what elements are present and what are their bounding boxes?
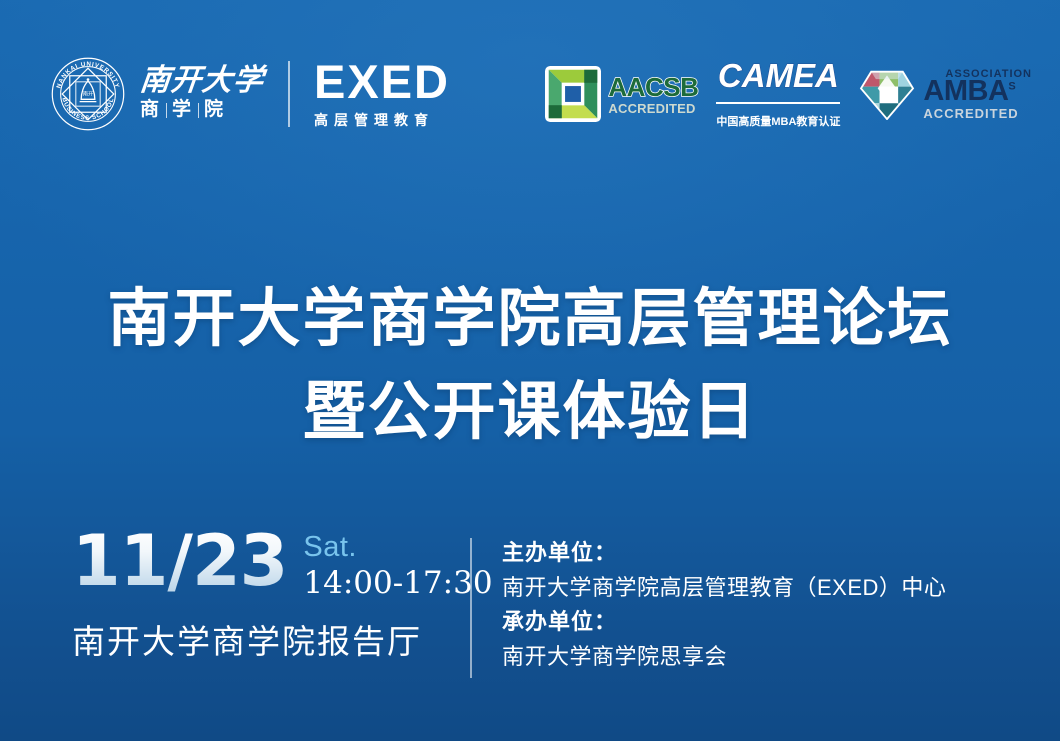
camea-subtitle: 中国高质量MBA教育认证: [716, 113, 840, 129]
logo-divider: [288, 61, 290, 127]
accreditation-badges: AACSB ACCREDITED CAMEA 中国高质量MBA教育认证: [545, 48, 1032, 140]
amba-title-superscript: S: [1008, 80, 1015, 92]
wordmark-char-yuan: 院: [204, 98, 225, 123]
weekday-time-group: Sat. 14:00-17:30: [303, 528, 492, 603]
nankai-chinese-wordmark: 南开大学 商 学 院: [140, 56, 264, 132]
wordmark-university-name: 南开大学: [138, 65, 265, 97]
badge-camea: CAMEA 中国高质量MBA教育认证: [716, 59, 840, 129]
aacsb-title: AACSB: [608, 74, 698, 100]
event-info: 11/23 Sat. 14:00-17:30 南开大学商学院报告厅 主办单位： …: [0, 528, 1060, 678]
aacsb-subtitle: ACCREDITED: [608, 102, 698, 115]
wordmark-separator-2: [198, 103, 199, 118]
badge-aacsb: AACSB ACCREDITED: [545, 66, 698, 122]
event-date: 11/23: [72, 528, 287, 595]
aacsb-text: AACSB ACCREDITED: [608, 74, 698, 115]
event-time: 14:00-17:30: [303, 564, 492, 603]
event-weekday: Sat.: [303, 532, 492, 562]
wordmark-separator-1: [166, 103, 167, 118]
exed-lockup: EXED 高层管理教育: [314, 56, 450, 132]
exed-title: EXED: [314, 58, 450, 105]
nankai-seal-icon: NANKAI UNIVERSITY BUSINESS SCHOOL 南开: [50, 56, 126, 132]
exed-subtitle: 高层管理教育: [314, 110, 450, 130]
title-line-2: 暨公开课体验日: [0, 365, 1060, 458]
organizer-column: 主办单位： 南开大学商学院高层管理教育（EXED）中心 承办单位： 南开大学商学…: [472, 528, 1060, 675]
aacsb-logo-icon: [545, 66, 601, 122]
badge-amba: ASSOCIATION AMBAS ACCREDITED: [858, 68, 1032, 120]
co-host-label: 承办单位：: [502, 605, 1060, 639]
svg-text:NANKAI UNIVERSITY: NANKAI UNIVERSITY: [55, 61, 120, 89]
co-host-value: 南开大学商学院思享会: [502, 639, 1060, 674]
host-value: 南开大学商学院高层管理教育（EXED）中心: [502, 570, 1060, 605]
poster-header: NANKAI UNIVERSITY BUSINESS SCHOOL 南开 南开大: [0, 48, 1060, 140]
amba-diamond-icon: [858, 68, 916, 120]
amba-text: ASSOCIATION AMBAS ACCREDITED: [923, 69, 1032, 120]
event-venue: 南开大学商学院报告厅: [72, 615, 470, 663]
host-label: 主办单位：: [502, 536, 1060, 570]
amba-title: AMBAS: [923, 77, 1032, 106]
wordmark-char-xue: 学: [172, 98, 193, 123]
wordmark-school-name: 商 学 院: [140, 98, 264, 123]
wordmark-char-shang: 商: [140, 98, 161, 123]
poster-title: 南开大学商学院高层管理论坛 暨公开课体验日: [0, 272, 1060, 458]
brand-lockup: NANKAI UNIVERSITY BUSINESS SCHOOL 南开 南开大: [50, 48, 450, 140]
date-row: 11/23 Sat. 14:00-17:30: [72, 528, 470, 603]
poster-canvas: NANKAI UNIVERSITY BUSINESS SCHOOL 南开 南开大: [0, 0, 1060, 741]
camea-rule: [716, 102, 840, 104]
amba-subtitle: ACCREDITED: [923, 107, 1032, 120]
camea-title: CAMEA: [718, 59, 839, 92]
date-venue-column: 11/23 Sat. 14:00-17:30 南开大学商学院报告厅: [0, 528, 470, 663]
title-line-1: 南开大学商学院高层管理论坛: [0, 272, 1060, 365]
svg-text:南开: 南开: [83, 90, 94, 98]
